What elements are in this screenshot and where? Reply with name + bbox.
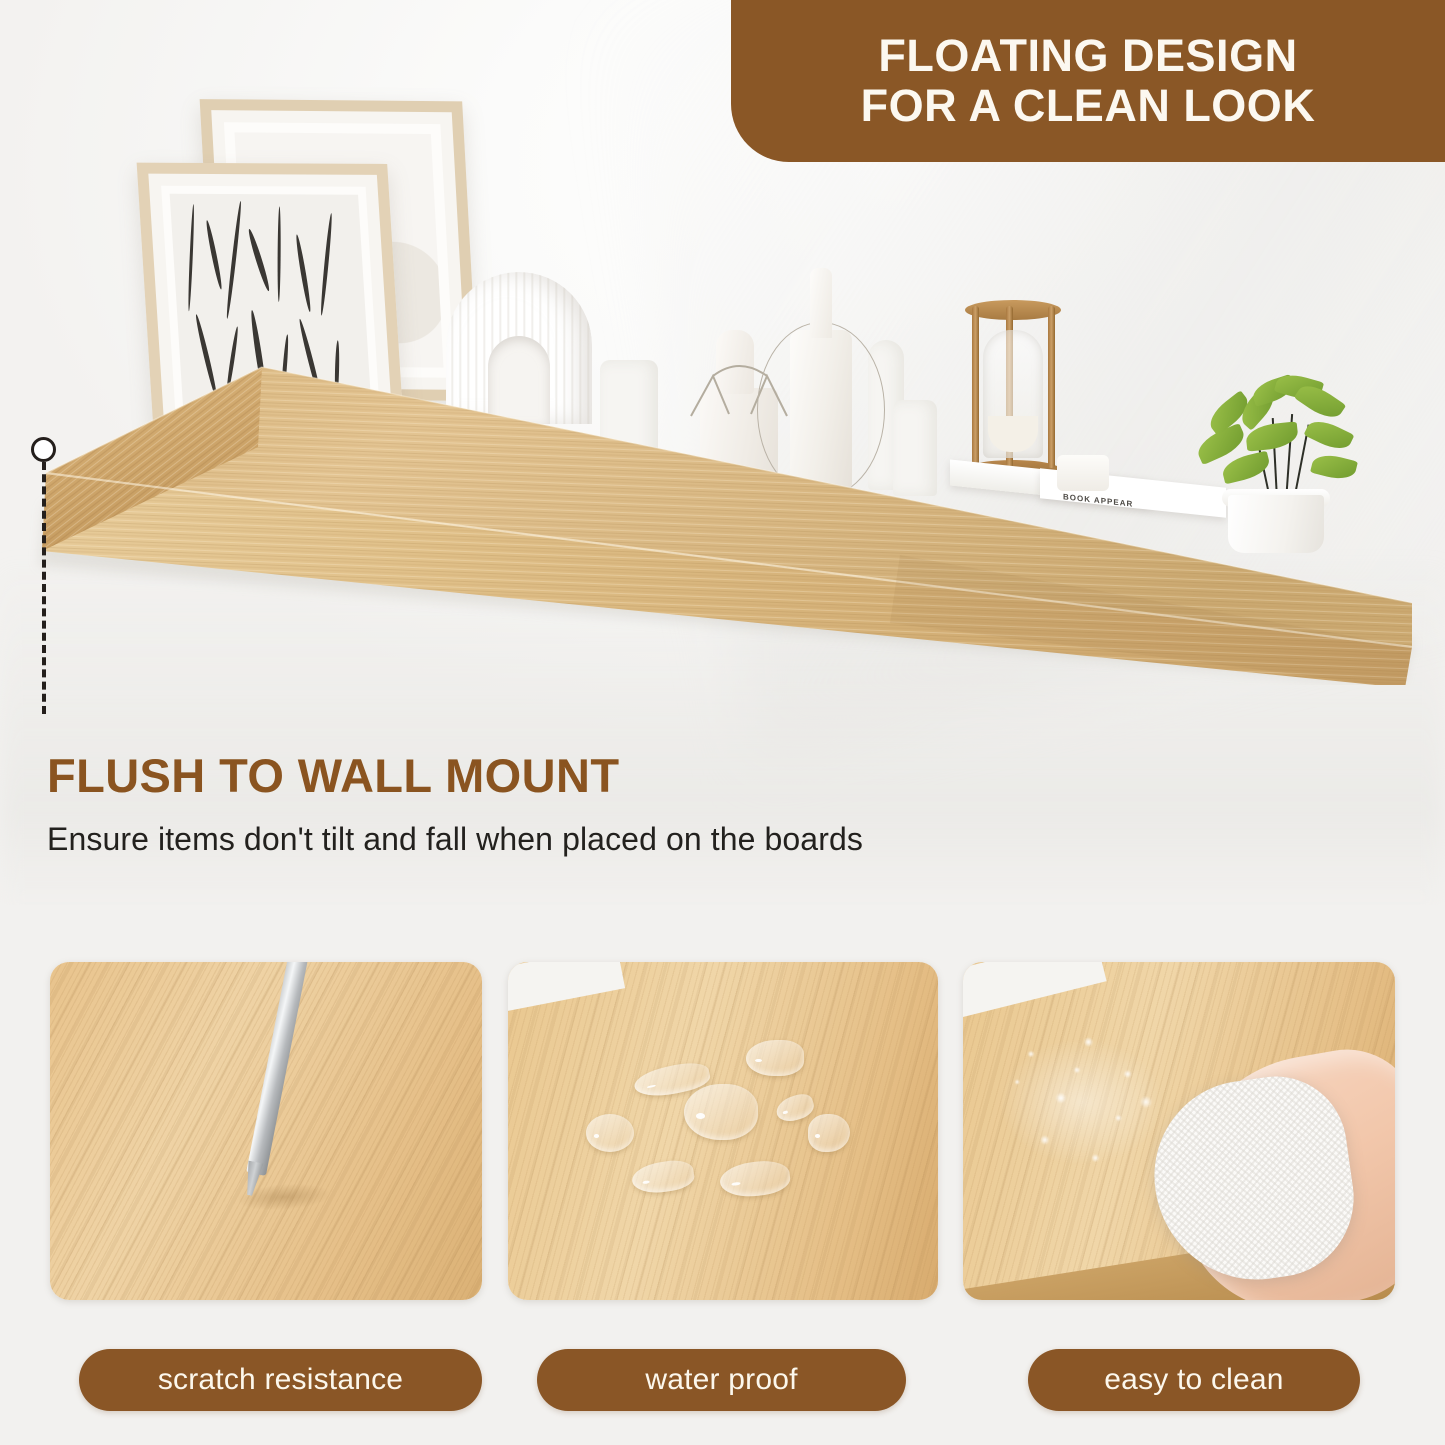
banner-title-line2: FOR A CLEAN LOOK — [861, 81, 1316, 131]
feature-image-easy-to-clean — [963, 962, 1395, 1300]
pill-scratch-resistance[interactable]: scratch resistance — [79, 1349, 482, 1411]
feature-image-water-proof — [508, 962, 938, 1300]
banner-title-line1: FLOATING DESIGN — [878, 31, 1297, 81]
callout-dashed-line — [42, 462, 46, 714]
callout-dot — [31, 437, 56, 462]
feature-image-scratch-resistance — [50, 962, 482, 1300]
water-droplet — [746, 1040, 804, 1076]
hourglass-top-cap — [965, 300, 1061, 320]
tall-bottle-neck — [810, 268, 832, 338]
headline-block: FLUSH TO WALL MOUNT Ensure items don't t… — [47, 752, 863, 858]
pill-water-proof[interactable]: water proof — [537, 1349, 906, 1411]
floating-shelf — [0, 355, 1445, 685]
feature-caption-pills: scratch resistance water proof easy to c… — [0, 1349, 1445, 1419]
water-droplet — [586, 1114, 634, 1152]
water-droplet — [684, 1084, 758, 1140]
header-banner: FLOATING DESIGN FOR A CLEAN LOOK — [731, 0, 1445, 162]
page-subtitle: Ensure items don't tilt and fall when pl… — [47, 821, 863, 858]
page-title: FLUSH TO WALL MOUNT — [47, 752, 863, 799]
pill-easy-to-clean[interactable]: easy to clean — [1028, 1349, 1360, 1411]
